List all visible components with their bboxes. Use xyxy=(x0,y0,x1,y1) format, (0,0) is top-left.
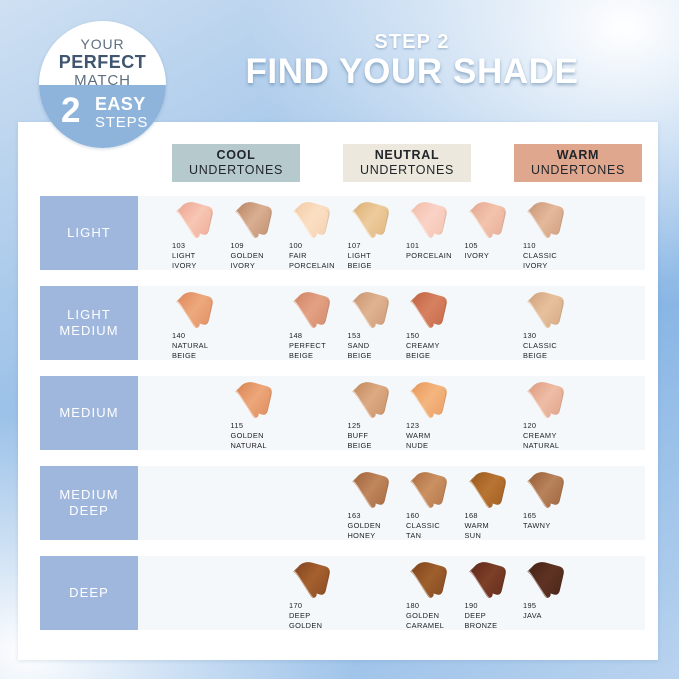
foundation-smear-icon xyxy=(406,291,450,331)
shade-label: 100 FAIR PORCELAIN xyxy=(289,241,335,270)
row-label-medium: MEDIUM xyxy=(40,376,138,450)
shade-row: LIGHT MEDIUM140 NATURAL BEIGE148 PERFECT… xyxy=(40,286,645,360)
shade-label: 101 PORCELAIN xyxy=(406,241,452,261)
shade-swatch-153[interactable]: 153 SAND BEIGE xyxy=(346,286,404,360)
shade-swatch-107[interactable]: 107 LIGHT BEIGE xyxy=(346,196,404,270)
foundation-smear-icon xyxy=(172,201,216,241)
foundation-smear-icon xyxy=(172,291,216,331)
foundation-smear-icon xyxy=(289,561,333,601)
shade-label: 190 DEEP BRONZE xyxy=(465,601,498,630)
badge-step-number: 2 xyxy=(61,93,80,128)
shade-label: 110 CLASSIC IVORY xyxy=(523,241,557,270)
undertone-name: COOL xyxy=(217,148,256,163)
shade-swatch-109[interactable]: 109 GOLDEN IVORY xyxy=(229,196,287,270)
shade-swatch-180[interactable]: 180 GOLDEN CARAMEL xyxy=(404,556,462,630)
foundation-smear-icon xyxy=(289,291,333,331)
foundation-smear-icon xyxy=(289,201,333,241)
foundation-smear-icon xyxy=(406,471,450,511)
shade-swatch-123[interactable]: 123 WARM NUDE xyxy=(404,376,462,450)
shade-row: DEEP170 DEEP GOLDEN180 GOLDEN CARAMEL190… xyxy=(40,556,645,630)
shade-label: 163 GOLDEN HONEY xyxy=(348,511,381,540)
shade-row: LIGHT103 LIGHT IVORY109 GOLDEN IVORY100 … xyxy=(40,196,645,270)
shade-swatch-150[interactable]: 150 CREAMY BEIGE xyxy=(404,286,462,360)
shade-swatch-120[interactable]: 120 CREAMY NATURAL xyxy=(521,376,579,450)
shade-chart-card: COOLUNDERTONESNEUTRALUNDERTONESWARMUNDER… xyxy=(18,122,658,660)
shade-row: MEDIUM DEEP163 GOLDEN HONEY160 CLASSIC T… xyxy=(40,466,645,540)
foundation-smear-icon xyxy=(406,381,450,421)
row-label-medium-deep: MEDIUM DEEP xyxy=(40,466,138,540)
step-label: STEP 2 xyxy=(262,31,562,54)
undertone-sublabel: UNDERTONES xyxy=(189,163,283,178)
undertone-header-warm: WARMUNDERTONES xyxy=(514,144,642,182)
shade-label: 150 CREAMY BEIGE xyxy=(406,331,440,360)
foundation-smear-icon xyxy=(406,561,450,601)
shade-label: 195 JAVA xyxy=(523,601,542,621)
shade-swatch-195[interactable]: 195 JAVA xyxy=(521,556,579,630)
undertone-sublabel: UNDERTONES xyxy=(531,163,625,178)
badge-line-perfect: PERFECT xyxy=(39,53,166,71)
foundation-smear-icon xyxy=(231,381,275,421)
shade-swatch-115[interactable]: 115 GOLDEN NATURAL xyxy=(229,376,287,450)
foundation-smear-icon xyxy=(348,201,392,241)
page-title: FIND YOUR SHADE xyxy=(222,52,602,92)
shade-label: 180 GOLDEN CARAMEL xyxy=(406,601,444,630)
perfect-match-badge: YOUR PERFECT MATCH 2 EASY STEPS xyxy=(39,21,166,148)
undertone-header-cool: COOLUNDERTONES xyxy=(172,144,300,182)
shade-swatch-101[interactable]: 101 PORCELAIN xyxy=(404,196,462,270)
shade-label: 115 GOLDEN NATURAL xyxy=(231,421,267,450)
shade-label: 105 IVORY xyxy=(465,241,490,261)
shade-swatch-160[interactable]: 160 CLASSIC TAN xyxy=(404,466,462,540)
foundation-smear-icon xyxy=(523,561,567,601)
shade-label: 123 WARM NUDE xyxy=(406,421,431,450)
shade-label: 140 NATURAL BEIGE xyxy=(172,331,208,360)
shade-swatch-148[interactable]: 148 PERFECT BEIGE xyxy=(287,286,345,360)
shade-swatch-170[interactable]: 170 DEEP GOLDEN xyxy=(287,556,345,630)
undertone-header-neutral: NEUTRALUNDERTONES xyxy=(343,144,471,182)
badge-line-easy: EASY xyxy=(95,95,146,113)
shade-swatch-130[interactable]: 130 CLASSIC BEIGE xyxy=(521,286,579,360)
shade-swatch-190[interactable]: 190 DEEP BRONZE xyxy=(463,556,521,630)
shade-label: 125 BUFF BEIGE xyxy=(348,421,372,450)
shade-swatch-140[interactable]: 140 NATURAL BEIGE xyxy=(170,286,228,360)
foundation-smear-icon xyxy=(465,471,509,511)
foundation-smear-icon xyxy=(523,201,567,241)
shade-label: 120 CREAMY NATURAL xyxy=(523,421,559,450)
row-label-deep: DEEP xyxy=(40,556,138,630)
shade-label: 165 TAWNY xyxy=(523,511,551,531)
row-label-light-medium: LIGHT MEDIUM xyxy=(40,286,138,360)
foundation-smear-icon xyxy=(348,381,392,421)
shade-label: 130 CLASSIC BEIGE xyxy=(523,331,557,360)
foundation-smear-icon xyxy=(465,201,509,241)
shade-label: 170 DEEP GOLDEN xyxy=(289,601,322,630)
badge-line-your: YOUR xyxy=(39,37,166,51)
shade-label: 148 PERFECT BEIGE xyxy=(289,331,326,360)
row-label-light: LIGHT xyxy=(40,196,138,270)
shade-swatch-110[interactable]: 110 CLASSIC IVORY xyxy=(521,196,579,270)
foundation-smear-icon xyxy=(231,201,275,241)
shade-label: 168 WARM SUN xyxy=(465,511,490,540)
foundation-smear-icon xyxy=(406,201,450,241)
foundation-smear-icon xyxy=(523,381,567,421)
badge-line-steps: STEPS xyxy=(95,115,148,130)
shade-swatch-125[interactable]: 125 BUFF BEIGE xyxy=(346,376,404,450)
foundation-smear-icon xyxy=(348,471,392,511)
shade-row: MEDIUM115 GOLDEN NATURAL125 BUFF BEIGE12… xyxy=(40,376,645,450)
undertone-sublabel: UNDERTONES xyxy=(360,163,454,178)
foundation-smear-icon xyxy=(465,561,509,601)
shade-swatch-163[interactable]: 163 GOLDEN HONEY xyxy=(346,466,404,540)
shade-swatch-168[interactable]: 168 WARM SUN xyxy=(463,466,521,540)
foundation-smear-icon xyxy=(523,471,567,511)
shade-swatch-103[interactable]: 103 LIGHT IVORY xyxy=(170,196,228,270)
shade-swatch-105[interactable]: 105 IVORY xyxy=(463,196,521,270)
shade-swatch-165[interactable]: 165 TAWNY xyxy=(521,466,579,540)
shade-label: 103 LIGHT IVORY xyxy=(172,241,197,270)
foundation-smear-icon xyxy=(348,291,392,331)
shade-swatch-100[interactable]: 100 FAIR PORCELAIN xyxy=(287,196,345,270)
shade-label: 107 LIGHT BEIGE xyxy=(348,241,372,270)
shade-label: 160 CLASSIC TAN xyxy=(406,511,440,540)
undertone-name: NEUTRAL xyxy=(375,148,440,163)
shade-label: 153 SAND BEIGE xyxy=(348,331,372,360)
badge-line-match: MATCH xyxy=(39,73,166,88)
shade-label: 109 GOLDEN IVORY xyxy=(231,241,264,270)
foundation-smear-icon xyxy=(523,291,567,331)
undertone-name: WARM xyxy=(557,148,599,163)
